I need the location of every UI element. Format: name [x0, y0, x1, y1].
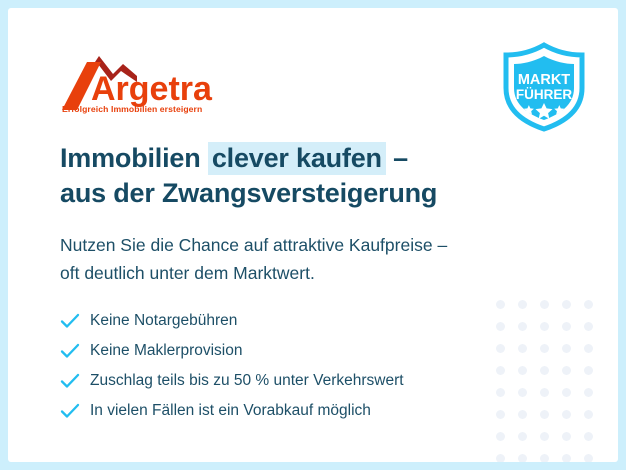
list-item: Zuschlag teils bis zu 50 % unter Verkehr…: [60, 366, 520, 396]
decorative-dot: [562, 432, 571, 441]
decorative-dot: [584, 344, 593, 353]
logo-tagline: Erfolgreich Immobilien ersteigern: [62, 104, 202, 114]
check-icon: [60, 341, 90, 361]
headline-prefix: Immobilien: [60, 143, 208, 173]
headline-suffix: –: [386, 143, 408, 173]
decorative-dot: [518, 454, 527, 462]
decorative-dot: [562, 344, 571, 353]
decorative-dot: [540, 344, 549, 353]
headline-line-2: aus der Zwangsversteigerung: [60, 176, 437, 211]
decorative-dot: [562, 410, 571, 419]
subheadline-line-2: oft deutlich unter dem Marktwert.: [60, 259, 447, 287]
decorative-dot: [584, 300, 593, 309]
subheadline: Nutzen Sie die Chance auf attraktive Kau…: [60, 231, 447, 287]
headline-line-1: Immobilien clever kaufen –: [60, 141, 437, 176]
logo-wordmark: Argetra: [91, 70, 213, 108]
decorative-dot: [562, 300, 571, 309]
promo-card: Argetra Erfolgreich Immobilien ersteiger…: [8, 8, 618, 462]
decorative-dot: [496, 432, 505, 441]
decorative-dot: [540, 454, 549, 462]
decorative-dot: [584, 388, 593, 397]
argetra-logo-icon: Argetra Erfolgreich Immobilien ersteiger…: [61, 52, 251, 114]
decorative-dot: [562, 322, 571, 331]
decorative-dot: [540, 410, 549, 419]
decorative-dot: [540, 322, 549, 331]
decorative-dot: [584, 410, 593, 419]
list-item: Keine Maklerprovision: [60, 336, 520, 366]
decorative-dot: [584, 432, 593, 441]
benefits-list: Keine Notargebühren Keine Maklerprovisio…: [60, 306, 520, 426]
check-icon: [60, 401, 90, 421]
check-icon: [60, 371, 90, 391]
decorative-dot: [562, 366, 571, 375]
list-item-label: Keine Maklerprovision: [90, 342, 243, 360]
check-icon: [60, 311, 90, 331]
badge-line1: MARKT: [518, 72, 570, 88]
subheadline-line-1: Nutzen Sie die Chance auf attraktive Kau…: [60, 231, 447, 259]
decorative-dot: [540, 300, 549, 309]
list-item: Keine Notargebühren: [60, 306, 520, 336]
list-item-label: In vielen Fällen ist ein Vorabkauf mögli…: [90, 402, 371, 420]
marktfuehrer-badge: MARKT FÜHRER: [500, 42, 588, 132]
decorative-dot: [518, 432, 527, 441]
decorative-dot: [562, 454, 571, 462]
list-item-label: Zuschlag teils bis zu 50 % unter Verkehr…: [90, 372, 404, 390]
decorative-dot: [540, 388, 549, 397]
page-title: Immobilien clever kaufen – aus der Zwang…: [60, 141, 437, 211]
decorative-dot: [562, 388, 571, 397]
argetra-logo: Argetra Erfolgreich Immobilien ersteiger…: [61, 52, 251, 114]
decorative-dot: [584, 454, 593, 462]
decorative-dot: [540, 432, 549, 441]
list-item-label: Keine Notargebühren: [90, 312, 237, 330]
headline-highlight: clever kaufen: [208, 142, 386, 175]
decorative-dot: [496, 454, 505, 462]
list-item: In vielen Fällen ist ein Vorabkauf mögli…: [60, 396, 520, 426]
decorative-dot: [584, 366, 593, 375]
badge-line2: FÜHRER: [516, 87, 572, 102]
shield-icon: MARKT FÜHRER: [500, 42, 588, 132]
decorative-dot: [540, 366, 549, 375]
decorative-dot: [584, 322, 593, 331]
